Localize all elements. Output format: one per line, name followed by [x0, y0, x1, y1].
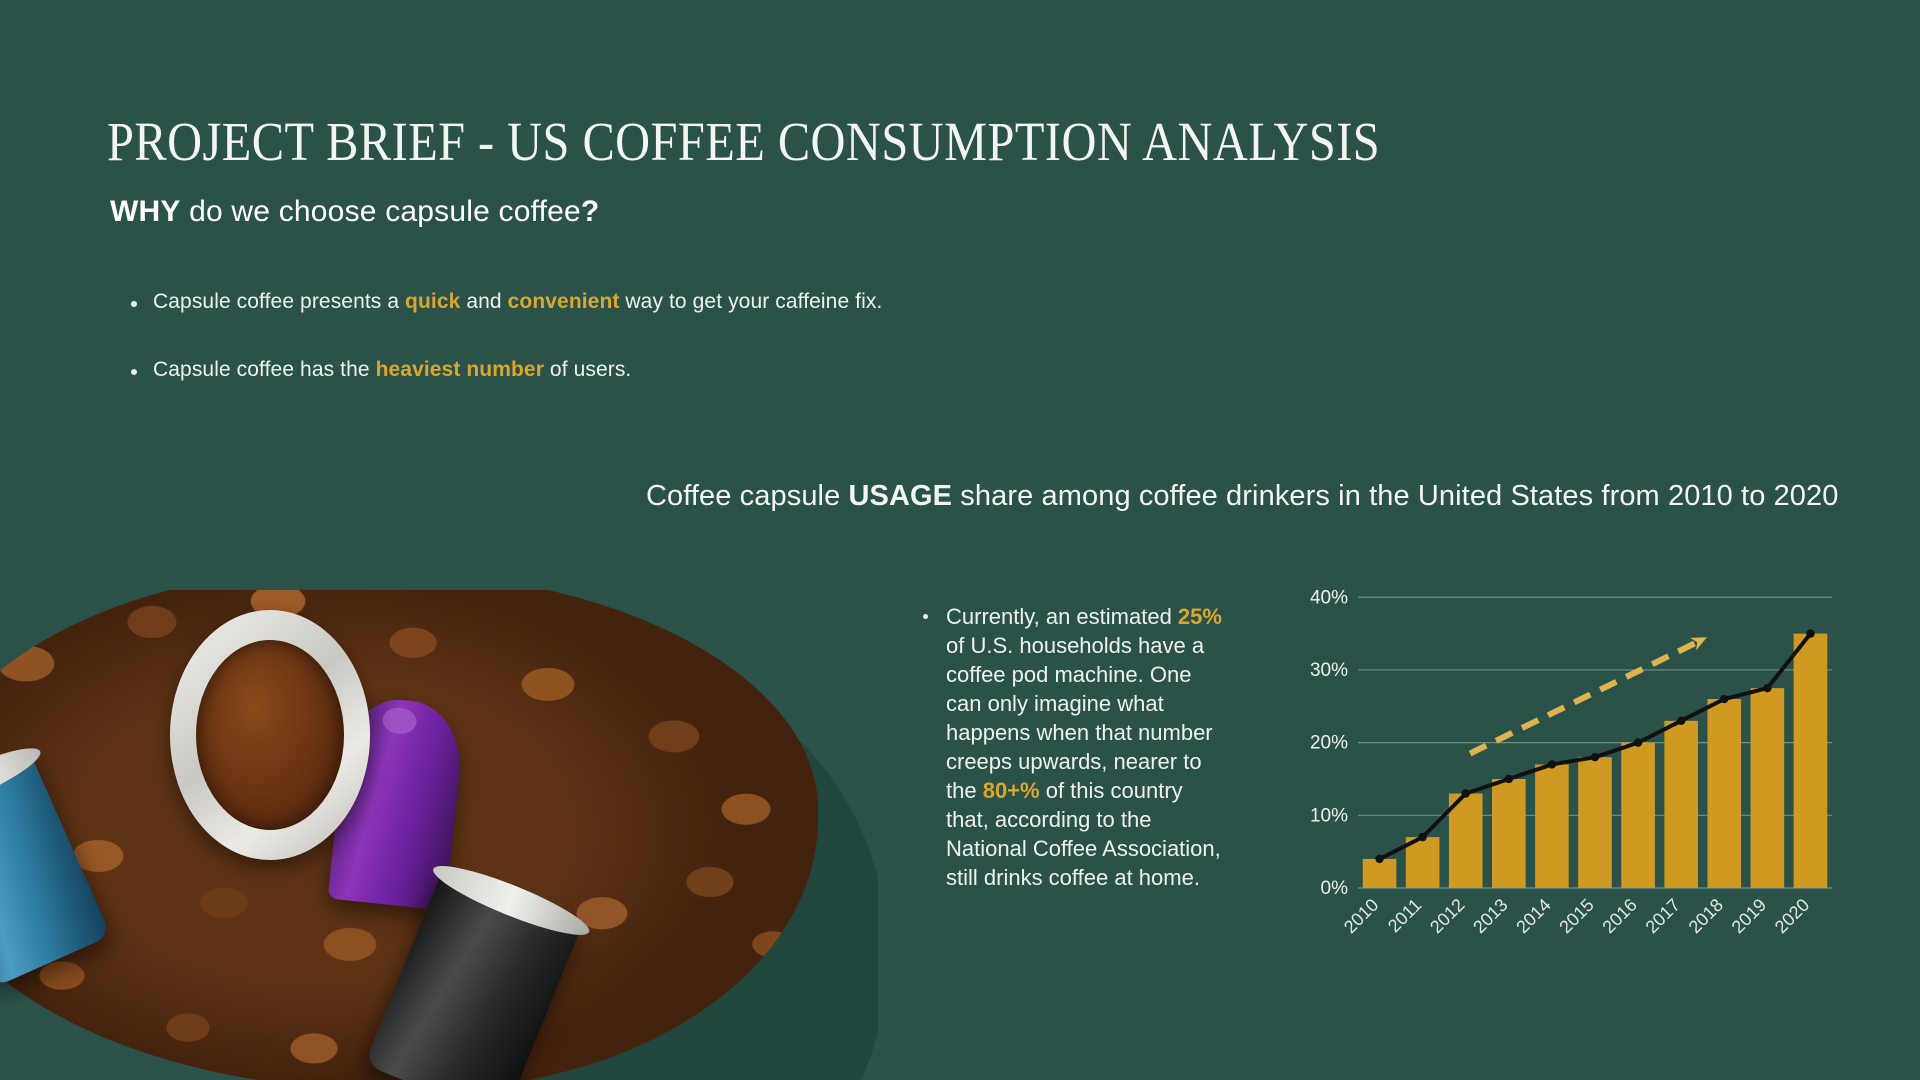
y-axis-tick-label: 10%: [1310, 805, 1348, 826]
y-axis-tick-label: 40%: [1310, 587, 1348, 608]
subheading-middle: do we choose capsule coffee: [181, 195, 581, 228]
x-axis-tick-label: 2015: [1555, 895, 1597, 937]
statistics-bullet-list: Currently, an estimated 25% of U.S. hous…: [918, 602, 1228, 892]
chart-section-heading: Coffee capsule USAGE share among coffee …: [646, 473, 1866, 519]
y-axis-tick-label: 20%: [1310, 733, 1348, 754]
coffee-capsule-photo: [0, 590, 878, 1080]
chart-bar: [1707, 699, 1741, 888]
chart-heading-bold: USAGE: [849, 480, 953, 512]
chart-heading-part2: share among coffee drinkers in the Unite…: [952, 480, 1838, 512]
highlight-text: convenient: [508, 290, 620, 313]
body-text: of users.: [544, 358, 631, 381]
chart-heading-part1: Coffee capsule: [646, 480, 849, 512]
slide-canvas: PROJECT BRIEF - US COFFEE CONSUMPTION AN…: [0, 0, 1920, 1080]
x-axis-tick-label: 2012: [1426, 895, 1468, 937]
chart-bar: [1578, 757, 1612, 888]
silver-coffee-pod-icon: [170, 610, 370, 860]
x-axis-tick-label: 2011: [1384, 895, 1426, 937]
highlight-text: 80+%: [983, 778, 1040, 803]
body-text: Capsule coffee has the: [153, 358, 376, 381]
chart-trend-marker: [1763, 684, 1771, 692]
x-axis-tick-label: 2020: [1771, 895, 1813, 937]
chart-trend-marker: [1634, 738, 1642, 746]
chart-trend-marker: [1720, 695, 1728, 703]
chart-trend-marker: [1677, 717, 1685, 725]
subheading-bold-lead: WHY: [110, 195, 181, 228]
chart-bar: [1621, 743, 1655, 888]
chart-svg-canvas: 0%10%20%30%40%20102011201220132014201520…: [1300, 580, 1840, 980]
x-axis-tick-label: 2019: [1728, 895, 1770, 937]
chart-trend-marker: [1462, 789, 1470, 797]
x-axis-tick-label: 2018: [1685, 895, 1727, 937]
x-axis-tick-label: 2013: [1469, 895, 1511, 937]
list-item: Currently, an estimated 25% of U.S. hous…: [918, 602, 1228, 892]
usage-share-chart: 0%10%20%30%40%20102011201220132014201520…: [1300, 580, 1840, 980]
chart-bar: [1751, 688, 1785, 888]
highlight-text: heaviest number: [376, 358, 544, 381]
page-title: PROJECT BRIEF - US COFFEE CONSUMPTION AN…: [107, 110, 1380, 173]
chart-trend-marker: [1505, 775, 1513, 783]
y-axis-tick-label: 30%: [1310, 660, 1348, 681]
subheading: WHY do we choose capsule coffee?: [110, 195, 599, 229]
chart-bar: [1794, 634, 1828, 888]
chart-trend-marker: [1375, 855, 1383, 863]
chart-trend-marker: [1418, 833, 1426, 841]
body-text: Currently, an estimated: [946, 604, 1178, 629]
x-axis-tick-label: 2014: [1512, 895, 1554, 937]
list-item: Capsule coffee has the heaviest number o…: [125, 358, 1325, 382]
chart-trend-marker: [1806, 629, 1814, 637]
body-text: and: [460, 290, 507, 313]
highlight-text: 25%: [1178, 604, 1222, 629]
x-axis-tick-label: 2016: [1598, 895, 1640, 937]
chart-bar: [1664, 721, 1698, 888]
body-text: way to get your caffeine fix.: [619, 290, 882, 313]
list-item: Capsule coffee presents a quick and conv…: [125, 290, 1325, 314]
chart-bar: [1492, 779, 1526, 888]
chart-trend-marker: [1591, 753, 1599, 761]
why-bullet-list: Capsule coffee presents a quick and conv…: [125, 290, 1325, 426]
chart-trend-marker: [1548, 760, 1556, 768]
chart-bar: [1363, 859, 1397, 888]
x-axis-tick-label: 2010: [1340, 895, 1382, 937]
chart-bar: [1535, 764, 1569, 888]
highlight-text: quick: [405, 290, 460, 313]
subheading-bold-tail: ?: [581, 195, 600, 228]
body-text: Capsule coffee presents a: [153, 290, 405, 313]
y-axis-tick-label: 0%: [1321, 878, 1349, 899]
x-axis-tick-label: 2017: [1642, 895, 1684, 937]
